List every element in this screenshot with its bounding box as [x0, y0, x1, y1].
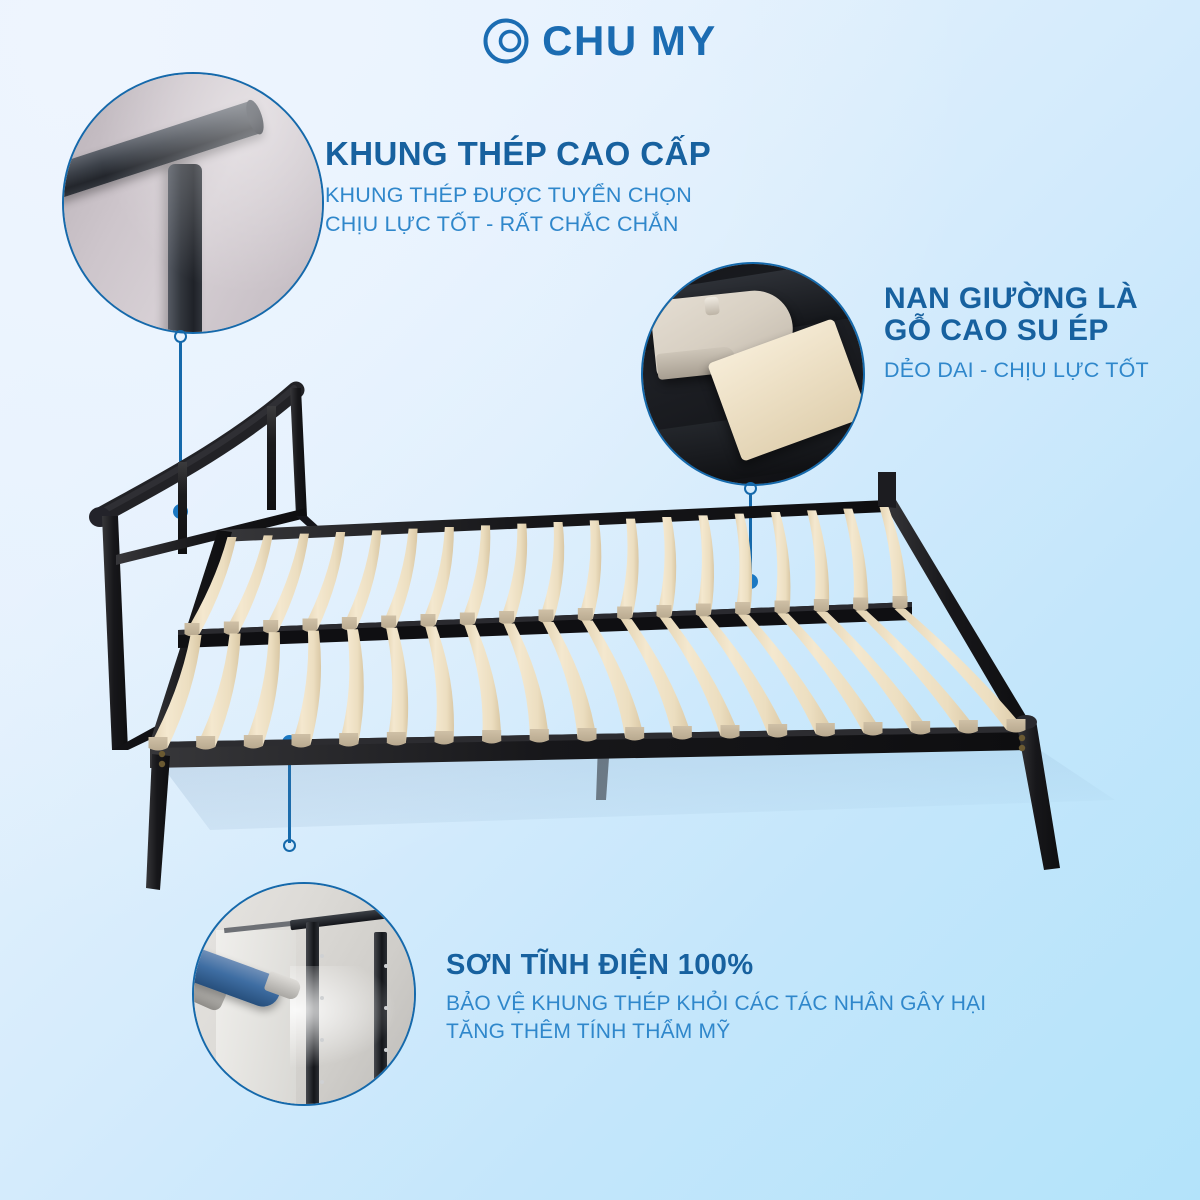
bed-slat-end-cap — [292, 734, 311, 748]
brand-logo: CHU MY — [0, 18, 1200, 64]
callout-subline-paint-2: TĂNG THÊM TÍNH THẨM MỸ — [446, 1018, 1066, 1046]
bed-slat — [735, 514, 752, 613]
bed-slat-end-cap — [460, 613, 475, 627]
bar-rivet — [384, 1048, 388, 1052]
bed-slat — [843, 509, 868, 609]
brand-name: CHU MY — [542, 20, 717, 62]
infographic-canvas: CHU MY KHUNG THÉP CAO CẤP KHUNG THÉP ĐƯỢ… — [0, 0, 1200, 1200]
bed-slat-end-cap — [149, 737, 168, 751]
bed-slat-end-cap — [381, 616, 396, 630]
bed-slat-end-cap — [196, 736, 215, 750]
white-panel — [216, 930, 296, 1106]
bed-slat-end-cap — [578, 728, 597, 742]
bed-slat-end-cap — [499, 611, 514, 625]
bed-slat — [342, 530, 382, 628]
bed-slat-end-cap — [911, 721, 930, 735]
steel-tube-t-joint-photo-icon — [62, 72, 324, 334]
bed-slat — [617, 519, 638, 618]
bed-slat — [292, 631, 322, 745]
bed-slat-end-cap — [224, 622, 239, 636]
bed-slat — [421, 527, 454, 625]
bed-slat — [771, 512, 791, 612]
bed-slat-end-cap — [482, 730, 501, 744]
bed-slat — [696, 515, 714, 614]
bed-slat — [303, 532, 346, 630]
bed-slat-end-cap — [959, 720, 978, 734]
bed-slat — [657, 517, 677, 616]
bed-slat-end-cap — [853, 598, 868, 612]
bed-slat-end-cap — [814, 599, 829, 613]
bar-rivet — [320, 1080, 324, 1084]
bed-frame-product-photo — [0, 330, 1200, 930]
chumy-circle-crescent-logo-icon — [483, 18, 529, 64]
callout-subline-paint-1: BẢO VỆ KHUNG THÉP KHỎI CÁC TÁC NHÂN GÂY … — [446, 990, 1066, 1018]
bed-slat — [244, 632, 280, 746]
callout-heading-paint: SƠN TĨNH ĐIỆN 100% — [446, 950, 1066, 981]
bed-slat-end-cap — [387, 732, 406, 746]
bed-slat-end-cap — [263, 620, 278, 634]
bar-rivet — [320, 954, 324, 958]
bed-slat — [386, 628, 408, 743]
bed-slat-end-cap — [244, 735, 263, 749]
bed-slat-end-cap — [339, 733, 358, 747]
callout-heading-frame: KHUNG THÉP CAO CẤP — [325, 137, 745, 172]
bed-slat-end-cap — [775, 601, 790, 615]
bed-slat — [339, 629, 364, 744]
bed-slat — [539, 522, 565, 621]
bed-slat-end-cap — [421, 614, 436, 628]
plastic-holder-peg — [704, 296, 720, 315]
bed-slat — [699, 616, 787, 735]
bed-slat-end-cap — [185, 623, 200, 637]
photo-highlight — [64, 74, 322, 332]
bed-slat — [503, 623, 548, 740]
bed-slat-end-cap — [721, 725, 740, 739]
bar-rivet — [384, 1006, 388, 1010]
bed-slat-end-cap — [816, 723, 835, 737]
bed-slat — [460, 525, 491, 623]
bed-slat — [578, 520, 601, 619]
bed-slat — [425, 626, 454, 742]
bed-slat-end-cap — [578, 608, 593, 622]
bed-slat-end-cap — [893, 596, 908, 610]
bed-slat-end-cap — [864, 722, 883, 736]
bed-slat-end-cap — [617, 607, 632, 621]
bed-slat — [543, 622, 597, 739]
callout-text-frame: KHUNG THÉP CAO CẤP KHUNG THÉP ĐƯỢC TUYỂN… — [325, 137, 745, 239]
callout-heading-slat-line1: NAN GIƯỜNG LÀ — [884, 282, 1138, 315]
bed-slat-end-cap — [673, 726, 692, 740]
bed-slat — [499, 524, 527, 622]
bed-slat-end-cap — [625, 727, 644, 741]
bed-slat — [807, 510, 829, 610]
bed-slat-end-cap — [303, 619, 318, 633]
bed-slat-end-cap — [435, 731, 454, 745]
bed-slat-end-cap — [696, 604, 711, 618]
callout-text-paint: SƠN TĨNH ĐIỆN 100% BẢO VỆ KHUNG THÉP KHỎ… — [446, 950, 1066, 1046]
bed-slat-end-cap — [342, 617, 357, 631]
bar-rivet — [384, 1090, 388, 1094]
bar-rivet — [320, 1038, 324, 1042]
bed-slat — [464, 625, 501, 741]
callout-subline-frame-2: CHỊU LỰC TỐT - RẤT CHẮC CHẮN — [325, 210, 745, 239]
bar-rivet — [320, 996, 324, 1000]
bed-slat-end-cap — [768, 724, 787, 738]
bed-slat-end-cap — [530, 729, 549, 743]
bed-slat-end-cap — [657, 605, 672, 619]
bed-slat-end-cap — [1007, 719, 1026, 733]
bar-rivet — [384, 964, 388, 968]
bed-slat-end-cap — [539, 610, 554, 624]
bed-slat — [196, 634, 240, 747]
bed-slat-end-cap — [735, 602, 750, 616]
paint-mist — [290, 966, 410, 1076]
bed-slat — [381, 529, 417, 627]
inset-photo-background — [64, 74, 322, 332]
callout-subline-frame-1: KHUNG THÉP ĐƯỢC TUYỂN CHỌN — [325, 181, 745, 210]
